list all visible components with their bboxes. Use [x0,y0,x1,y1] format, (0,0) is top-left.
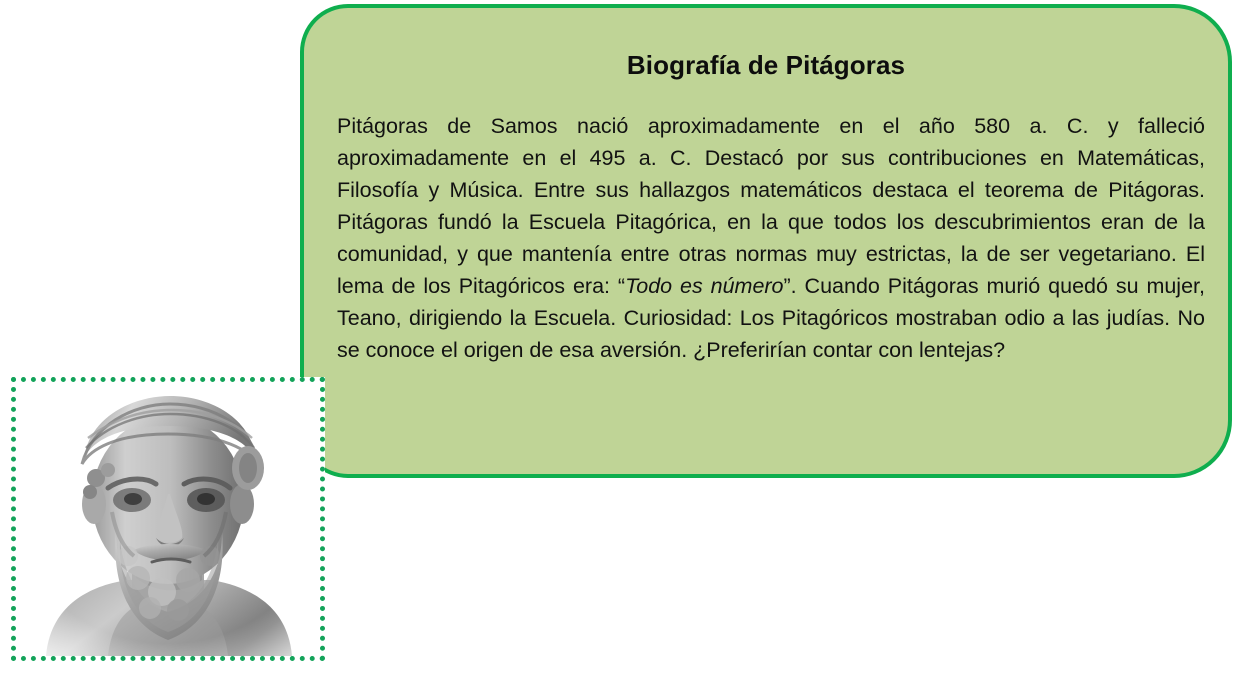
callout-title: Biografía de Pitágoras [300,50,1232,81]
callout-body-text: Pitágoras de Samos nació aproximadamente… [337,110,1205,366]
portrait-image [16,382,320,656]
pythagorean-motto: Todo es número [625,274,783,298]
body-text-part-1: Pitágoras de Samos nació aproximadamente… [337,114,1205,298]
slide-canvas: Biografía de Pitágoras Pitágoras de Samo… [0,0,1247,689]
pythagoras-bust-illustration [16,382,320,656]
portrait-frame [11,377,325,661]
